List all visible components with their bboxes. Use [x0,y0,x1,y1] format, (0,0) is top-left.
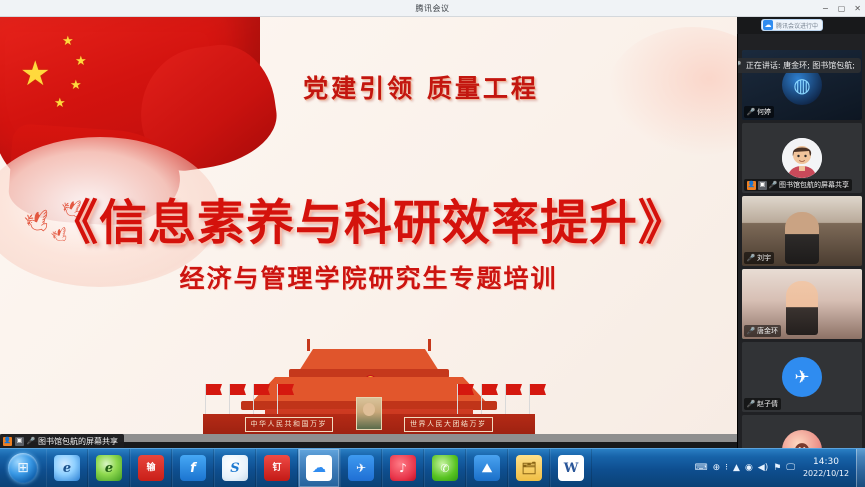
participant-namebar-3: 🎤 唐金环 [744,325,781,337]
participant-name-1: 图书馆包航的屏幕共享 [779,180,849,190]
shared-screen-slide[interactable]: ★ ★ ★ ★ ★ 🕊 🕊 🕊 党建引领 质量工程 《信息素养与科研效率提升》 … [0,17,737,442]
participant-rail[interactable]: ◍ 🎤 何婷 [737,34,865,465]
screen-share-banner-text: 图书馆包航的屏幕共享 [38,436,118,447]
tencent-meeting-icon: ☁ [306,455,332,481]
mic-on-icon: 🎤 [769,181,777,189]
portrait-icon [356,397,382,430]
floating-meeting-pill[interactable]: ☁ 腾讯会议进行中 [761,19,823,31]
screen: 腾讯会议 − ▢ ✕ ☁ 腾讯会议进行中 ★ ★ ★ ★ ★ [0,0,865,487]
screen-share-icon: ▣ [15,437,24,446]
mic-muted-icon: 🎤 [747,254,755,262]
taskbar-item-mountain-app[interactable]: ⛰ [466,449,508,487]
participant-namebar-4: 🎤 赵子倩 [744,398,781,410]
mic-muted-icon: 🎤 [747,400,755,408]
taskbar-item-microsoft-word[interactable]: W [550,449,592,487]
file-explorer-icon: 🗂 [516,455,542,481]
sogou-browser-icon: S [222,455,248,481]
taskbar-item-wechat[interactable]: ✆ [424,449,466,487]
host-badge-icon: 👤 [747,181,756,190]
window-title-bar: 腾讯会议 − ▢ ✕ [0,0,865,17]
mic-on-icon: 🎤 [747,327,755,335]
internet-explorer-icon: e [54,455,80,481]
system-tray: ⌨ ⊕ ⁝ ▲ ◉ ◀) ⚑ 🖵 [695,449,798,487]
participant-namebar-0: 🎤 何婷 [744,106,774,118]
participant-name-3: 唐金环 [757,326,778,336]
slide-title: 《信息素养与科研效率提升》 [0,183,737,253]
flag-star-small-2: ★ [75,55,87,68]
window-controls: − ▢ ✕ [822,0,861,17]
flag-star-small-1: ★ [62,35,74,48]
avatar: ✈ [782,357,822,397]
taskbar-item-internet-explorer[interactable]: e [46,449,88,487]
meeting-stage: ★ ★ ★ ★ ★ 🕊 🕊 🕊 党建引领 质量工程 《信息素养与科研效率提升》 … [0,17,865,448]
mountain-app-icon: ⛰ [474,455,500,481]
participant-namebar-1: 👤 ▣ 🎤 图书馆包航的屏幕共享 [744,179,852,191]
action-center-icon[interactable]: 🖵 [786,464,795,473]
close-button[interactable]: ✕ [854,5,861,13]
slide-subtitle: 经济与管理学院研究生专题培训 [0,259,737,295]
screen-share-banner[interactable]: 👤 ▣ 🎤 图书馆包航的屏幕共享 [0,434,124,448]
windows-logo-icon: ⊞ [8,453,38,483]
tencent-meeting-logo-icon: ☁ [763,20,773,30]
mic-muted-icon: 🎤 [747,108,755,116]
taskbar-item-netease-music[interactable]: ♪ [382,449,424,487]
taskbar-item-dingtalk[interactable]: 钉 [256,449,298,487]
speaking-toast-text: 正在讲话: 唐金环; 图书馆包航; [746,60,855,71]
kite-app-icon: ✈ [348,455,374,481]
taskbar-item-sogou-browser[interactable]: S [214,449,256,487]
ime-options-icon[interactable]: ⁝ [725,464,728,473]
security-icon[interactable]: ◉ [745,464,753,473]
microphone-icon: 🎤 [27,437,35,445]
taskbar-spacer [592,449,695,487]
host-badge-icon: 👤 [3,437,12,446]
360-browser-icon: e [96,455,122,481]
wechat-icon: ✆ [432,455,458,481]
taskbar-clock[interactable]: 14:30 2022/10/12 [798,457,856,478]
slogan-left: 中华人民共和国万岁 [245,417,334,432]
cartoon-avatar-icon [782,138,822,178]
keyboard-icon[interactable]: ⌨ [695,464,708,473]
participant-tile-1[interactable]: 👤 ▣ 🎤 图书馆包航的屏幕共享 [742,123,862,193]
slogan-right: 世界人民大团结万岁 [404,417,493,432]
clock-time: 14:30 [798,457,854,468]
taskbar-item-flash-app[interactable]: f [172,449,214,487]
avatar [782,138,822,178]
flash-app-icon: f [180,455,206,481]
taskbar-item-tencent-meeting[interactable]: ☁ [298,449,340,487]
speaking-toast: 🎤 正在讲话: 唐金环; 图书馆包航; [737,58,861,73]
taskbar-items: e e 输 f S 钉 ☁ ✈ ♪ ✆ ⛰ 🗂 W [46,449,592,487]
participant-tile-4[interactable]: ✈ 🎤 赵子倩 [742,342,862,412]
minimize-button[interactable]: − [822,5,829,13]
clock-date: 2022/10/12 [798,469,854,479]
network-icon[interactable]: ⚑ [773,464,781,473]
participant-name-2: 刘宇 [757,253,771,263]
participant-name-0: 何婷 [757,107,771,117]
slide-kicker: 党建引领 质量工程 [0,69,737,105]
tiananmen-illustration: 中华人民共和国万岁 世界人民大团结万岁 [189,327,549,442]
mic-muted-icon: 🎤 [737,62,742,70]
taskbar-item-kite-app[interactable]: ✈ [340,449,382,487]
taskbar-item-sogou-input[interactable]: 输 [130,449,172,487]
participant-tile-3[interactable]: 🎤 唐金环 [742,269,862,339]
dingtalk-icon: 钉 [264,455,290,481]
participant-namebar-2: 🎤 刘宇 [744,252,774,264]
netease-music-icon: ♪ [390,455,416,481]
start-button[interactable]: ⊞ [0,449,46,487]
show-hidden-icons-icon[interactable]: ▲ [733,464,740,473]
window-title: 腾讯会议 [416,3,450,14]
microsoft-word-icon: W [558,455,584,481]
floating-pill-label: 腾讯会议进行中 [776,21,818,30]
show-desktop-button[interactable] [856,449,865,487]
taskbar-item-360-browser[interactable]: e [88,449,130,487]
sogou-input-icon: 输 [138,455,164,481]
screen-share-icon: ▣ [758,181,767,190]
ime-icon[interactable]: ⊕ [713,464,721,473]
participant-name-4: 赵子倩 [757,399,778,409]
maximize-button[interactable]: ▢ [838,5,846,13]
taskbar-item-file-explorer[interactable]: 🗂 [508,449,550,487]
volume-icon[interactable]: ◀) [758,464,768,473]
participant-tile-2[interactable]: 🎤 刘宇 [742,196,862,266]
windows-taskbar: ⊞ e e 输 f S 钉 ☁ ✈ ♪ ✆ ⛰ 🗂 W ⌨ ⊕ ⁝ ▲ ◉ ◀)… [0,448,865,487]
